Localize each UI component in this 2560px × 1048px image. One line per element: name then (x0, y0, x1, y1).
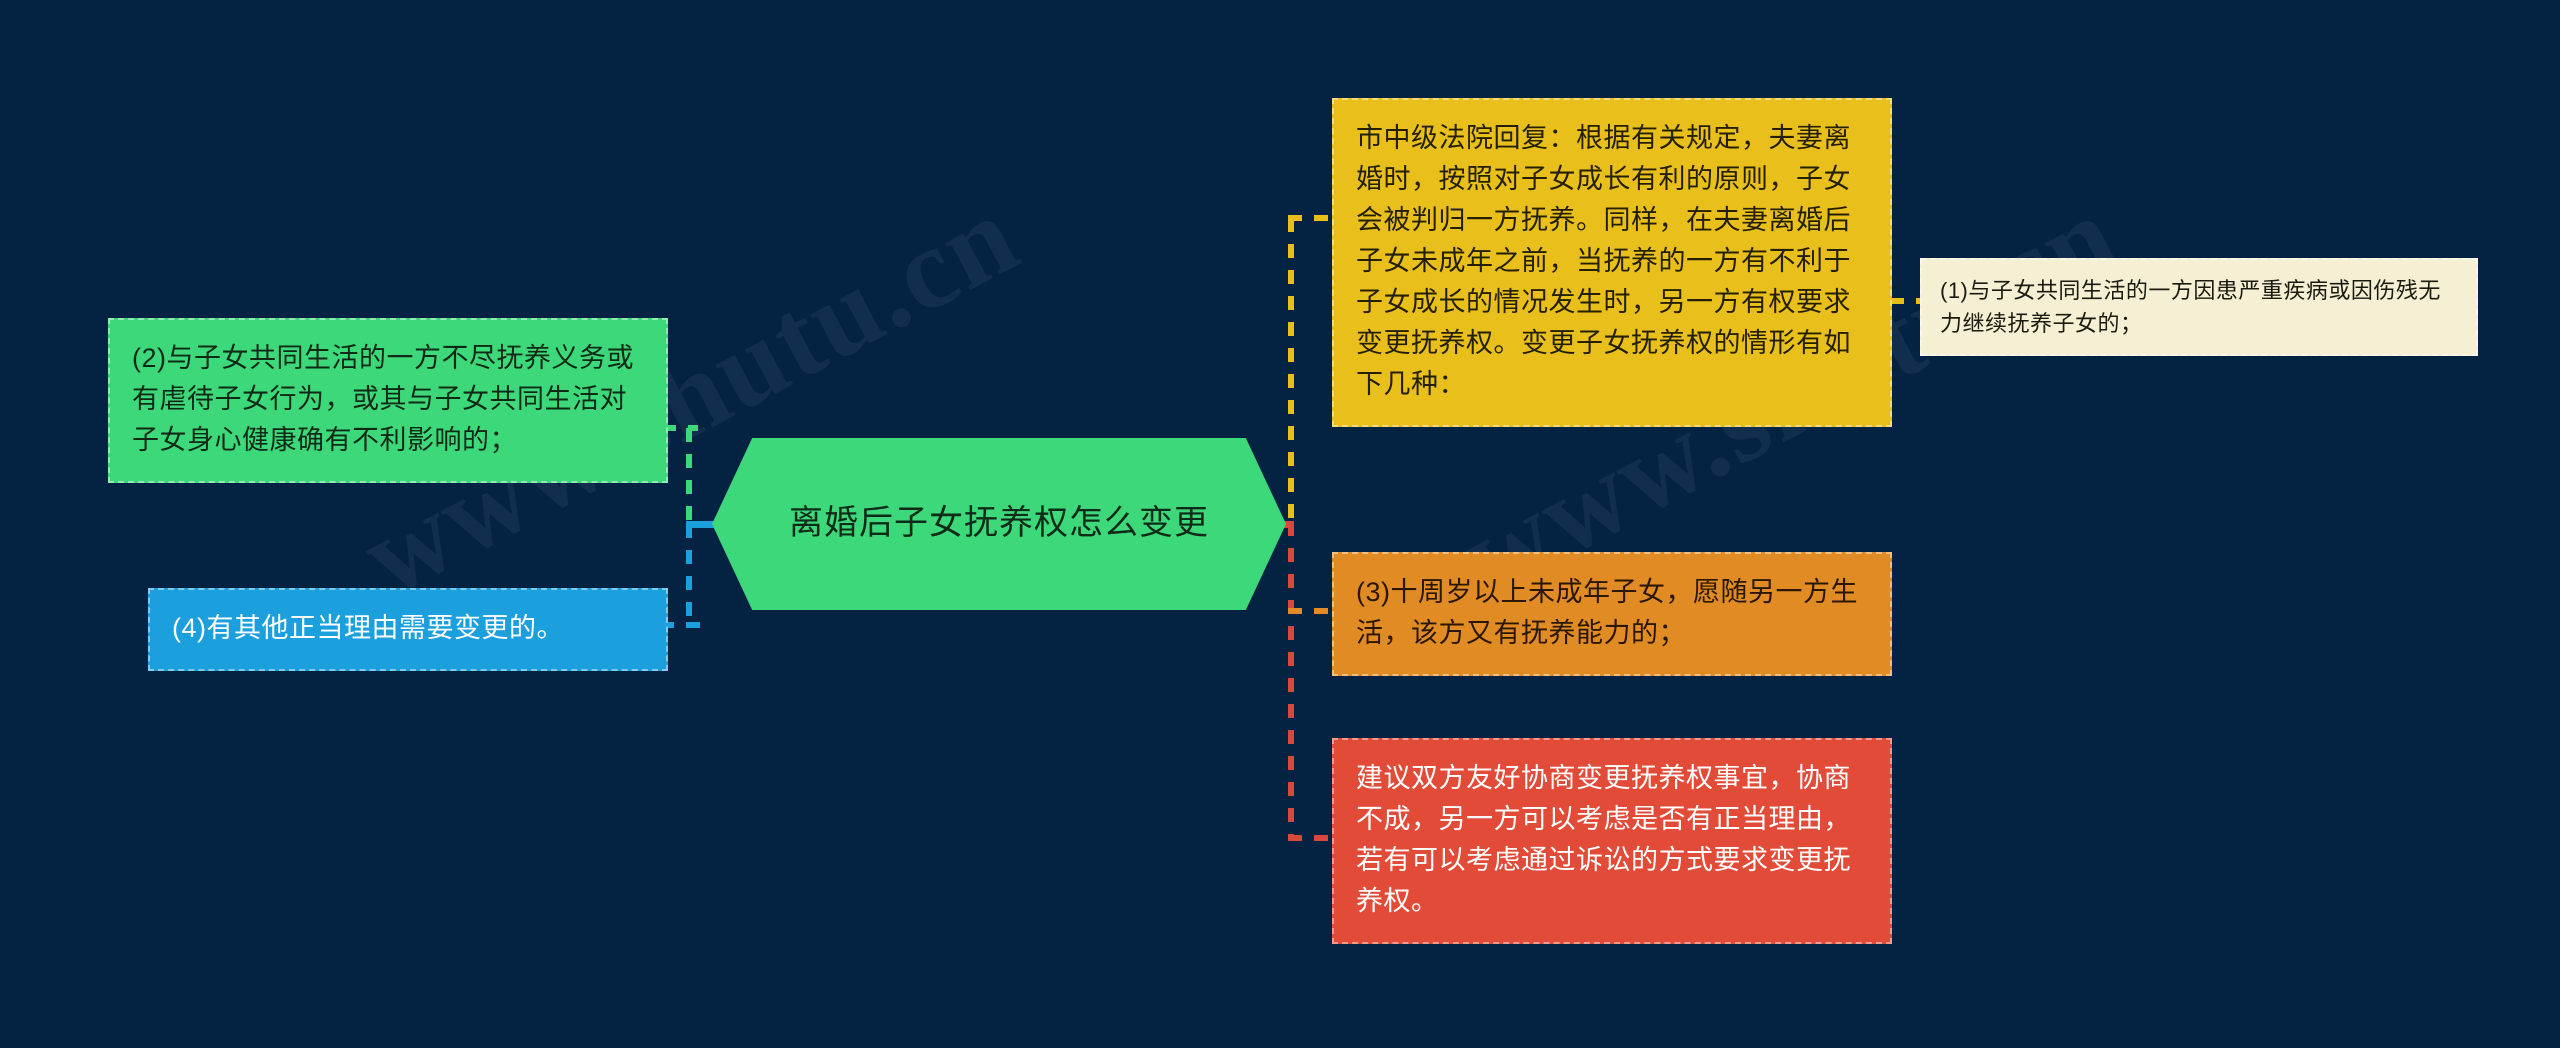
connector-left-spine-blue (686, 524, 692, 628)
connector-left-spine-green (686, 428, 692, 528)
node-reason-2[interactable]: (2)与子女共同生活的一方不尽抚养义务或有虐待子女行为，或其与子女共同生活对子女… (108, 318, 668, 483)
node-reason-1[interactable]: (1)与子女共同生活的一方因患严重疾病或因伤残无力继续抚养子女的； (1920, 258, 2478, 356)
node-reason-4[interactable]: (4)有其他正当理由需要变更的。 (148, 588, 668, 671)
connector-right-spine-red (1288, 522, 1294, 838)
node-suggestion[interactable]: 建议双方友好协商变更抚养权事宜，协商不成，另一方可以考虑是否有正当理由，若有可以… (1332, 738, 1892, 944)
central-topic-node[interactable]: 离婚后子女抚养权怎么变更 (712, 438, 1286, 610)
node-court-reply[interactable]: 市中级法院回复：根据有关规定，夫妻离婚时，按照对子女成长有利的原则，子女会被判归… (1332, 98, 1892, 427)
connector-right-spine-yellow (1288, 218, 1294, 518)
mindmap-canvas: www.shutu.cn www.shutu.cn (2)与子女共同生活的一方不… (0, 0, 2560, 1048)
node-reason-3[interactable]: (3)十周岁以上未成年子女，愿随另一方生活，该方又有抚养能力的； (1332, 552, 1892, 676)
